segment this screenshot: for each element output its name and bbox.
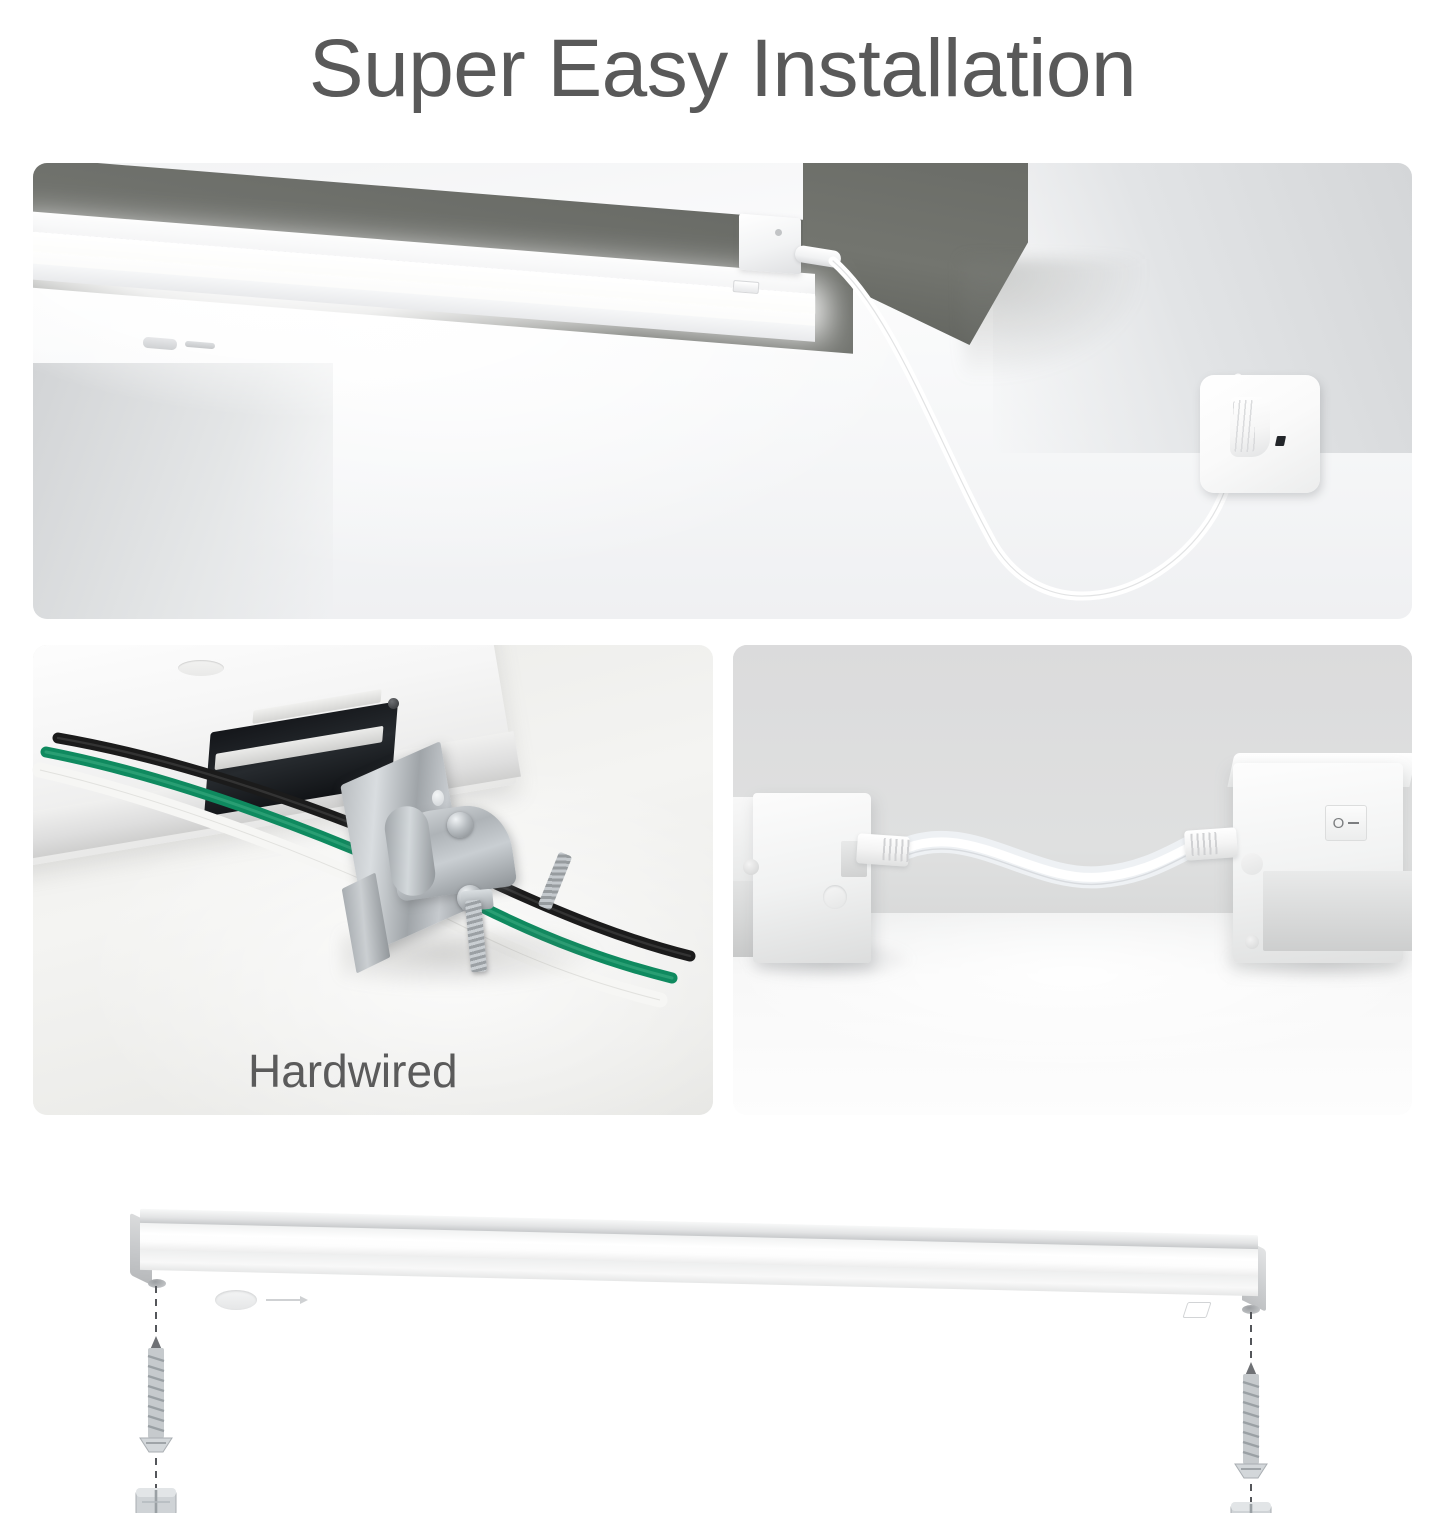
infographic-page: Super Easy Installation Plug-in (0, 0, 1445, 1513)
left-screw-assembly (136, 1286, 176, 1513)
right-connector-ridges (1190, 832, 1217, 856)
left-connector-ridges (882, 838, 909, 862)
mounting-hardware-diagram (0, 1140, 1445, 1513)
clamp-plate-hole (432, 790, 444, 806)
caption-hardwired: Hardwired (248, 1044, 458, 1098)
junctor-jumper-cable (733, 645, 1412, 1115)
panel-product-render (0, 1140, 1445, 1513)
panel-plug-in: Plug-in (33, 163, 1412, 619)
left-wall-anchor (136, 1488, 176, 1513)
clamp-screw-upper (447, 812, 473, 838)
page-title: Super Easy Installation (0, 24, 1445, 114)
right-wall-anchor (1231, 1502, 1271, 1513)
fixture-screw-hole (388, 698, 399, 709)
right-screw-assembly (1231, 1312, 1271, 1513)
outlet-plug-ridges (1233, 400, 1255, 452)
panel-junctor: O Junctor (733, 645, 1412, 1115)
fixture-dimple (178, 660, 224, 676)
render-arrow-marking (266, 1296, 308, 1304)
